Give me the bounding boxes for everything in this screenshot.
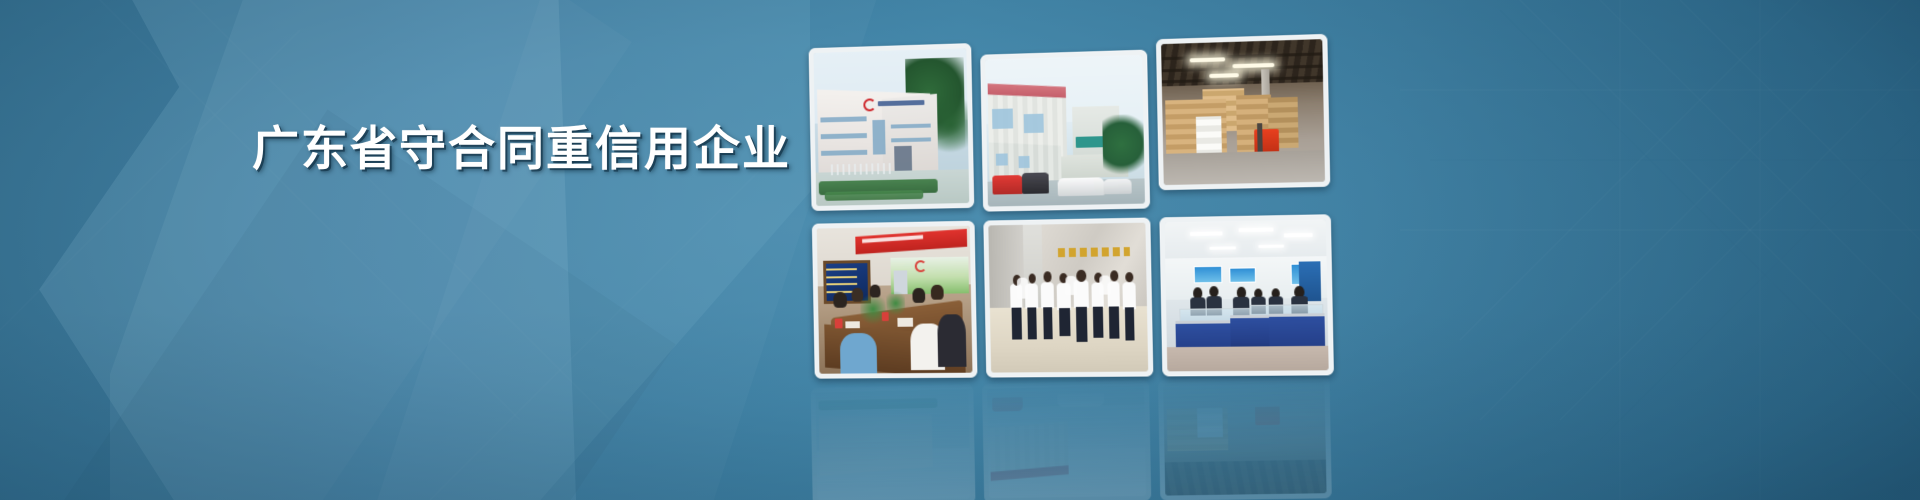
staff-photo-wall-text — [1057, 247, 1130, 257]
photo-row-bottom — [812, 214, 1342, 379]
photo-image-staff-group — [988, 223, 1148, 373]
photo-image-warehouse-stock — [1161, 39, 1325, 185]
photo-image-plant-building — [985, 55, 1145, 207]
photo-collage — [809, 32, 1343, 372]
company-banner: 广东省守合同重信用企业 — [0, 0, 1920, 500]
photo-card-office-workspace[interactable] — [1159, 214, 1334, 376]
photo-row-top — [809, 32, 1339, 215]
photo-card-factory-exterior[interactable] — [809, 43, 975, 211]
photo-image-conference-meeting — [817, 226, 973, 374]
photo-card-warehouse-stock[interactable] — [1156, 34, 1330, 190]
photo-image-office-workspace — [1164, 219, 1328, 371]
banner-headline: 广东省守合同重信用企业 — [252, 126, 791, 173]
photo-card-staff-group[interactable] — [983, 218, 1153, 378]
photo-card-plant-building[interactable] — [980, 50, 1150, 212]
photo-image-factory-exterior — [813, 48, 969, 206]
photo-card-conference-meeting[interactable] — [812, 221, 978, 379]
